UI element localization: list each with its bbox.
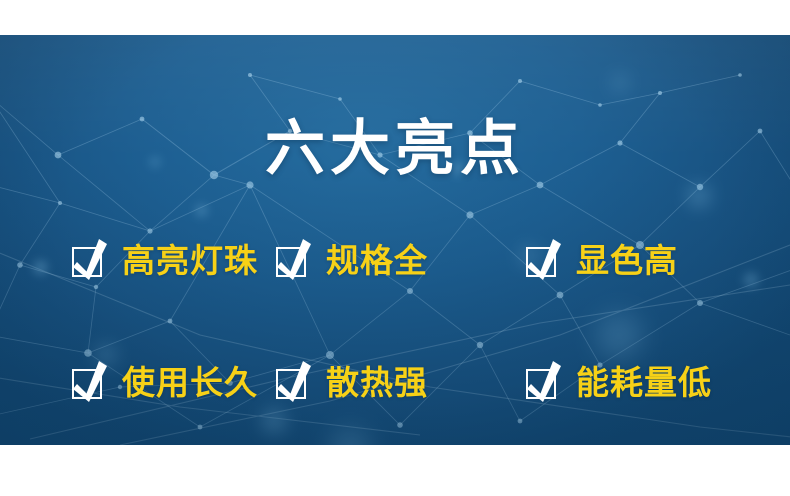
feature-row-1: 高亮灯珠 规格全 显色高: [0, 243, 790, 277]
feature-list: 高亮灯珠 规格全 显色高: [0, 243, 790, 399]
feature-row-2: 使用长久 散热强 能耗量低: [0, 365, 790, 399]
checkbox-checked-icon: [276, 243, 310, 277]
feature-item-full-specs[interactable]: 规格全: [262, 243, 494, 277]
checkbox-checked-icon: [526, 365, 560, 399]
checkbox-checked-icon: [72, 365, 106, 399]
banner-background: 六大亮点 高亮灯珠 规格全: [0, 35, 790, 445]
promo-banner-canvas: 六大亮点 高亮灯珠 规格全: [0, 0, 790, 496]
checkbox-checked-icon: [526, 243, 560, 277]
feature-label: 显色高: [576, 244, 678, 277]
bokeh-dot: [196, 205, 207, 216]
feature-label: 能耗量低: [576, 366, 712, 399]
checkbox-checked-icon: [72, 243, 106, 277]
feature-item-high-color-rendering[interactable]: 显色高: [494, 243, 790, 277]
feature-item-strong-heat-dissipation[interactable]: 散热强: [262, 365, 494, 399]
checkbox-checked-icon: [276, 365, 310, 399]
page-title: 六大亮点: [0, 119, 790, 179]
bokeh-dot: [262, 409, 286, 433]
bokeh-dot: [688, 185, 710, 207]
feature-item-high-brightness-bead[interactable]: 高亮灯珠: [0, 243, 262, 277]
feature-label: 散热强: [326, 366, 428, 399]
bokeh-dot: [612, 75, 628, 91]
feature-item-low-energy-consumption[interactable]: 能耗量低: [494, 365, 790, 399]
feature-label: 使用长久: [122, 366, 258, 399]
feature-item-long-lifespan[interactable]: 使用长久: [0, 365, 262, 399]
feature-label: 规格全: [326, 244, 428, 277]
feature-label: 高亮灯珠: [122, 244, 258, 277]
